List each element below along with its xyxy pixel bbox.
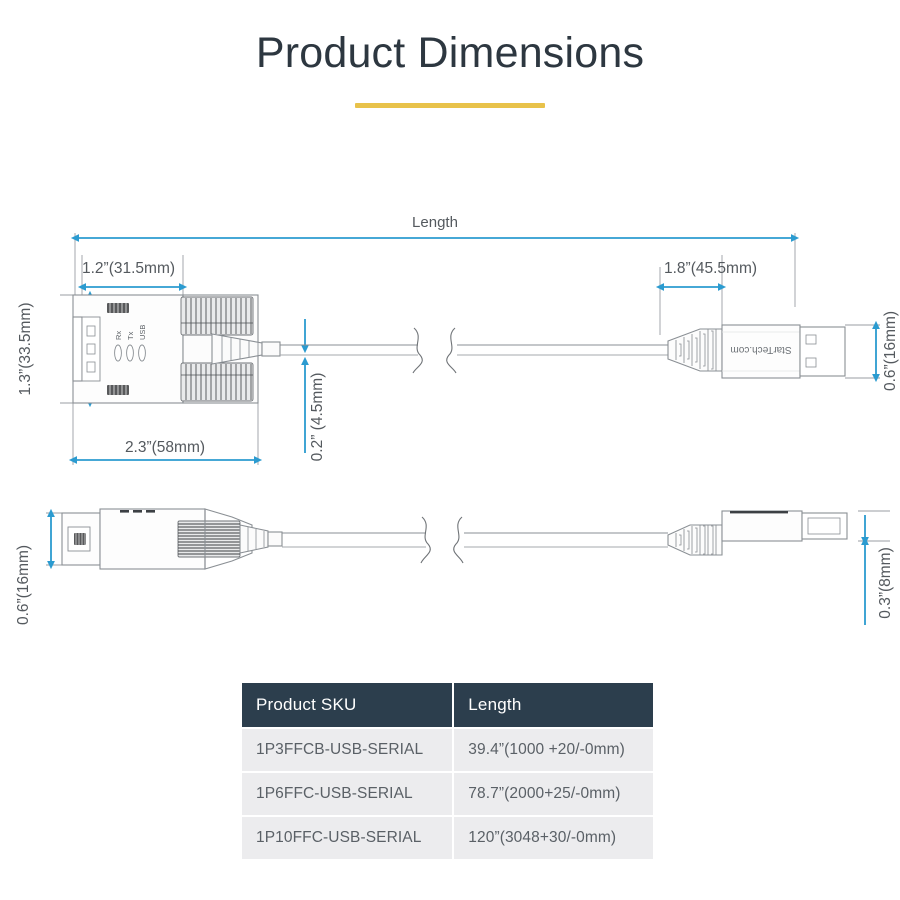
- dimension-label-usb-side-height: 0.3”(8mm): [877, 547, 894, 618]
- title-underline-rule: [355, 103, 545, 108]
- led-label-rx: Rx: [114, 331, 123, 340]
- column-header-length: Length: [454, 683, 653, 727]
- led-label-tx: Tx: [126, 331, 135, 340]
- page-title: Product Dimensions: [0, 30, 900, 77]
- cell-length: 120”(3048+30/-0mm): [454, 817, 653, 859]
- dimension-label-cable-diameter: 0.2” (4.5mm): [309, 373, 326, 462]
- dimension-label-usb-length: 1.8”(45.5mm): [664, 260, 757, 277]
- product-sku-length-table: Product SKU Length 1P3FFCB-USB-SERIAL 39…: [242, 681, 653, 861]
- cell-product-sku: 1P6FFC-USB-SERIAL: [242, 773, 454, 815]
- dimension-label-usb-height: 0.6”(16mm): [882, 311, 899, 391]
- cell-product-sku: 1P10FFC-USB-SERIAL: [242, 817, 454, 859]
- usb-brand-text: StarTech.com: [730, 344, 791, 355]
- dimension-label-serial-side-height: 0.6”(16mm): [15, 545, 32, 625]
- technical-drawing: StarTech.com: [0, 195, 900, 655]
- column-header-product-sku: Product SKU: [242, 683, 454, 727]
- table-header-row: Product SKU Length: [242, 683, 653, 727]
- table-row: 1P10FFC-USB-SERIAL 120”(3048+30/-0mm): [242, 817, 653, 859]
- led-label-usb: USB: [138, 325, 147, 340]
- title-block: Product Dimensions: [0, 30, 900, 108]
- cell-length: 39.4”(1000 +20/-0mm): [454, 729, 653, 771]
- dimension-label-serial-height: 1.3”(33.5mm): [17, 302, 34, 395]
- cell-product-sku: 1P3FFCB-USB-SERIAL: [242, 729, 454, 771]
- dimension-label-overall-length: Length: [412, 214, 458, 231]
- product-dimensions-page: Product Dimensions: [0, 0, 900, 900]
- cell-length: 78.7”(2000+25/-0mm): [454, 773, 653, 815]
- dimension-label-serial-body-length: 1.2”(31.5mm): [82, 260, 175, 277]
- table-row: 1P3FFCB-USB-SERIAL 39.4”(1000 +20/-0mm): [242, 729, 653, 771]
- dimension-label-serial-full-length: 2.3”(58mm): [125, 439, 205, 456]
- table-row: 1P6FFC-USB-SERIAL 78.7”(2000+25/-0mm): [242, 773, 653, 815]
